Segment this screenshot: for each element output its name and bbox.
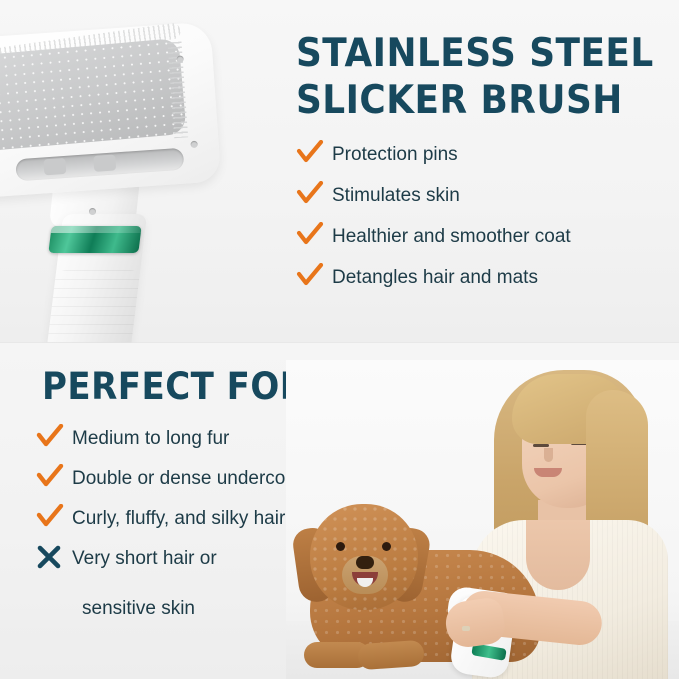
check-icon [36,504,72,530]
dog-nose [356,556,374,569]
check-icon [296,181,332,207]
list-item-label: Healthier and smoother coat [332,222,571,250]
lifestyle-photo [286,360,679,679]
list-item: Detangles hair and mats [296,263,571,304]
pin-dots [0,38,187,152]
woman-nose [544,448,553,462]
green-ring-band [48,226,141,253]
list-item: Very short hair or [36,544,301,584]
slot-tab [93,154,116,171]
brush-release-slot [15,148,184,182]
list-item: Curly, fluffy, and silky hair [36,504,301,544]
dog-paw [357,640,425,671]
slicker-brush-product-image [0,18,256,343]
woman-eye [533,444,549,447]
list-item-label: Stimulates skin [332,181,460,209]
check-icon [296,222,332,248]
page-title-line-2: SLICKER BRUSH [296,81,623,120]
perfect-for-title: PERFECT FOR [42,368,306,405]
dog-eye [336,542,345,551]
list-item-label: Detangles hair and mats [332,263,538,291]
cross-icon [36,544,72,570]
check-icon [296,140,332,166]
top-feature-list: Protection pins Stimulates skin Healthie… [296,140,571,304]
check-icon [296,263,332,289]
handle-ridges [45,270,141,343]
slot-tab [43,158,66,175]
list-item: Protection pins [296,140,571,181]
steel-pin-pad [0,38,187,152]
top-panel: STAINLESS STEEL SLICKER BRUSH Protection… [0,0,679,343]
list-item-label: Medium to long fur [72,424,229,452]
screw-icon [190,141,197,148]
list-item-label: Protection pins [332,140,458,168]
list-item: Stimulates skin [296,181,571,222]
check-icon [36,424,72,450]
check-icon [36,464,72,490]
page-title-line-1: STAINLESS STEEL [296,34,654,73]
infographic-root: STAINLESS STEEL SLICKER BRUSH Protection… [0,0,679,679]
brush-head [0,21,221,198]
dog-eye [382,542,391,551]
list-item-label: Double or dense undercoat [72,464,301,492]
list-item: Double or dense undercoat [36,464,301,504]
list-item: Medium to long fur [36,424,301,464]
woman-neckline [526,520,590,590]
list-item-label-wrap: sensitive skin [82,584,301,622]
woman-finger-ring [462,626,470,631]
list-item: Healthier and smoother coat [296,222,571,263]
bottom-suitability-list: Medium to long fur Double or dense under… [36,424,301,622]
list-item-label: Very short hair or [72,544,217,572]
screw-icon [89,208,96,215]
list-item-label: Curly, fluffy, and silky hair [72,504,285,532]
